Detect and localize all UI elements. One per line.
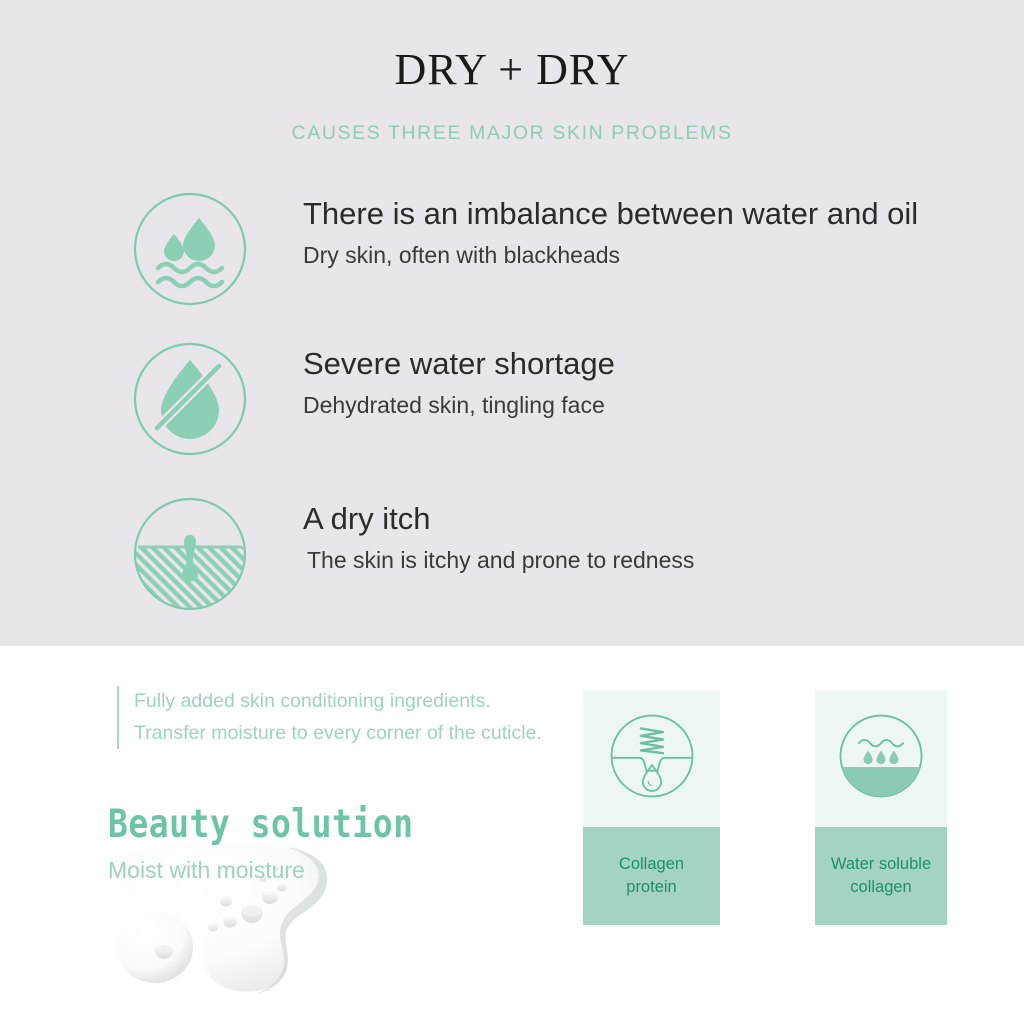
problem-text-block: A dry itch The skin is itchy and prone t… <box>303 501 694 574</box>
problem-row: A dry itch The skin is itchy and prone t… <box>0 495 1024 625</box>
problem-description: Dry skin, often with blackheads <box>303 242 918 270</box>
water-soluble-collagen-icon <box>835 710 927 807</box>
card-label-panel: Water soluble collagen <box>815 827 947 925</box>
card-label-line1: Water soluble <box>831 853 931 876</box>
brand-lockup: Beauty solution Moist with moisture <box>108 804 414 882</box>
solution-section: Fully added skin conditioning ingredient… <box>0 646 1024 1024</box>
water-drops-waves-icon <box>131 190 249 308</box>
solution-bullet: Fully added skin conditioning ingredient… <box>134 686 542 718</box>
problem-title: There is an imbalance between water and … <box>303 196 918 233</box>
ingredient-card-collagen-protein[interactable]: Collagen protein <box>583 690 720 925</box>
page-title: DRY + DRY <box>0 48 1024 92</box>
brand-subtitle: Moist with moisture <box>108 859 414 882</box>
problem-description: Dehydrated skin, tingling face <box>303 392 615 420</box>
problems-section: DRY + DRY CAUSES THREE MAJOR SKIN PROBLE… <box>0 0 1024 646</box>
dry-pore-skin-icon <box>131 495 249 613</box>
solution-bullet: Transfer moisture to every corner of the… <box>134 718 542 750</box>
problem-row: There is an imbalance between water and … <box>0 190 1024 320</box>
problem-text-block: Severe water shortage Dehydrated skin, t… <box>303 346 615 419</box>
problem-title: Severe water shortage <box>303 346 615 383</box>
brand-title: Beauty solution <box>108 804 414 843</box>
card-icon-panel <box>583 690 720 827</box>
card-label-panel: Collagen protein <box>583 827 720 925</box>
problem-description: The skin is itchy and prone to redness <box>307 547 694 575</box>
card-label-line2: protein <box>626 876 676 899</box>
ingredient-card-water-soluble-collagen[interactable]: Water soluble collagen <box>815 690 947 925</box>
solution-bullets: Fully added skin conditioning ingredient… <box>117 686 542 749</box>
problem-row: Severe water shortage Dehydrated skin, t… <box>0 340 1024 470</box>
card-icon-panel <box>815 690 947 827</box>
problem-title: A dry itch <box>303 501 694 538</box>
card-label-line2: collagen <box>850 876 911 899</box>
page-subtitle: CAUSES THREE MAJOR SKIN PROBLEMS <box>0 124 1024 144</box>
problem-text-block: There is an imbalance between water and … <box>303 196 918 269</box>
infographic-page: DRY + DRY CAUSES THREE MAJOR SKIN PROBLE… <box>0 0 1024 1024</box>
card-label-line1: Collagen <box>619 853 684 876</box>
no-water-drop-icon <box>131 340 249 458</box>
collagen-coil-pore-icon <box>606 710 698 807</box>
